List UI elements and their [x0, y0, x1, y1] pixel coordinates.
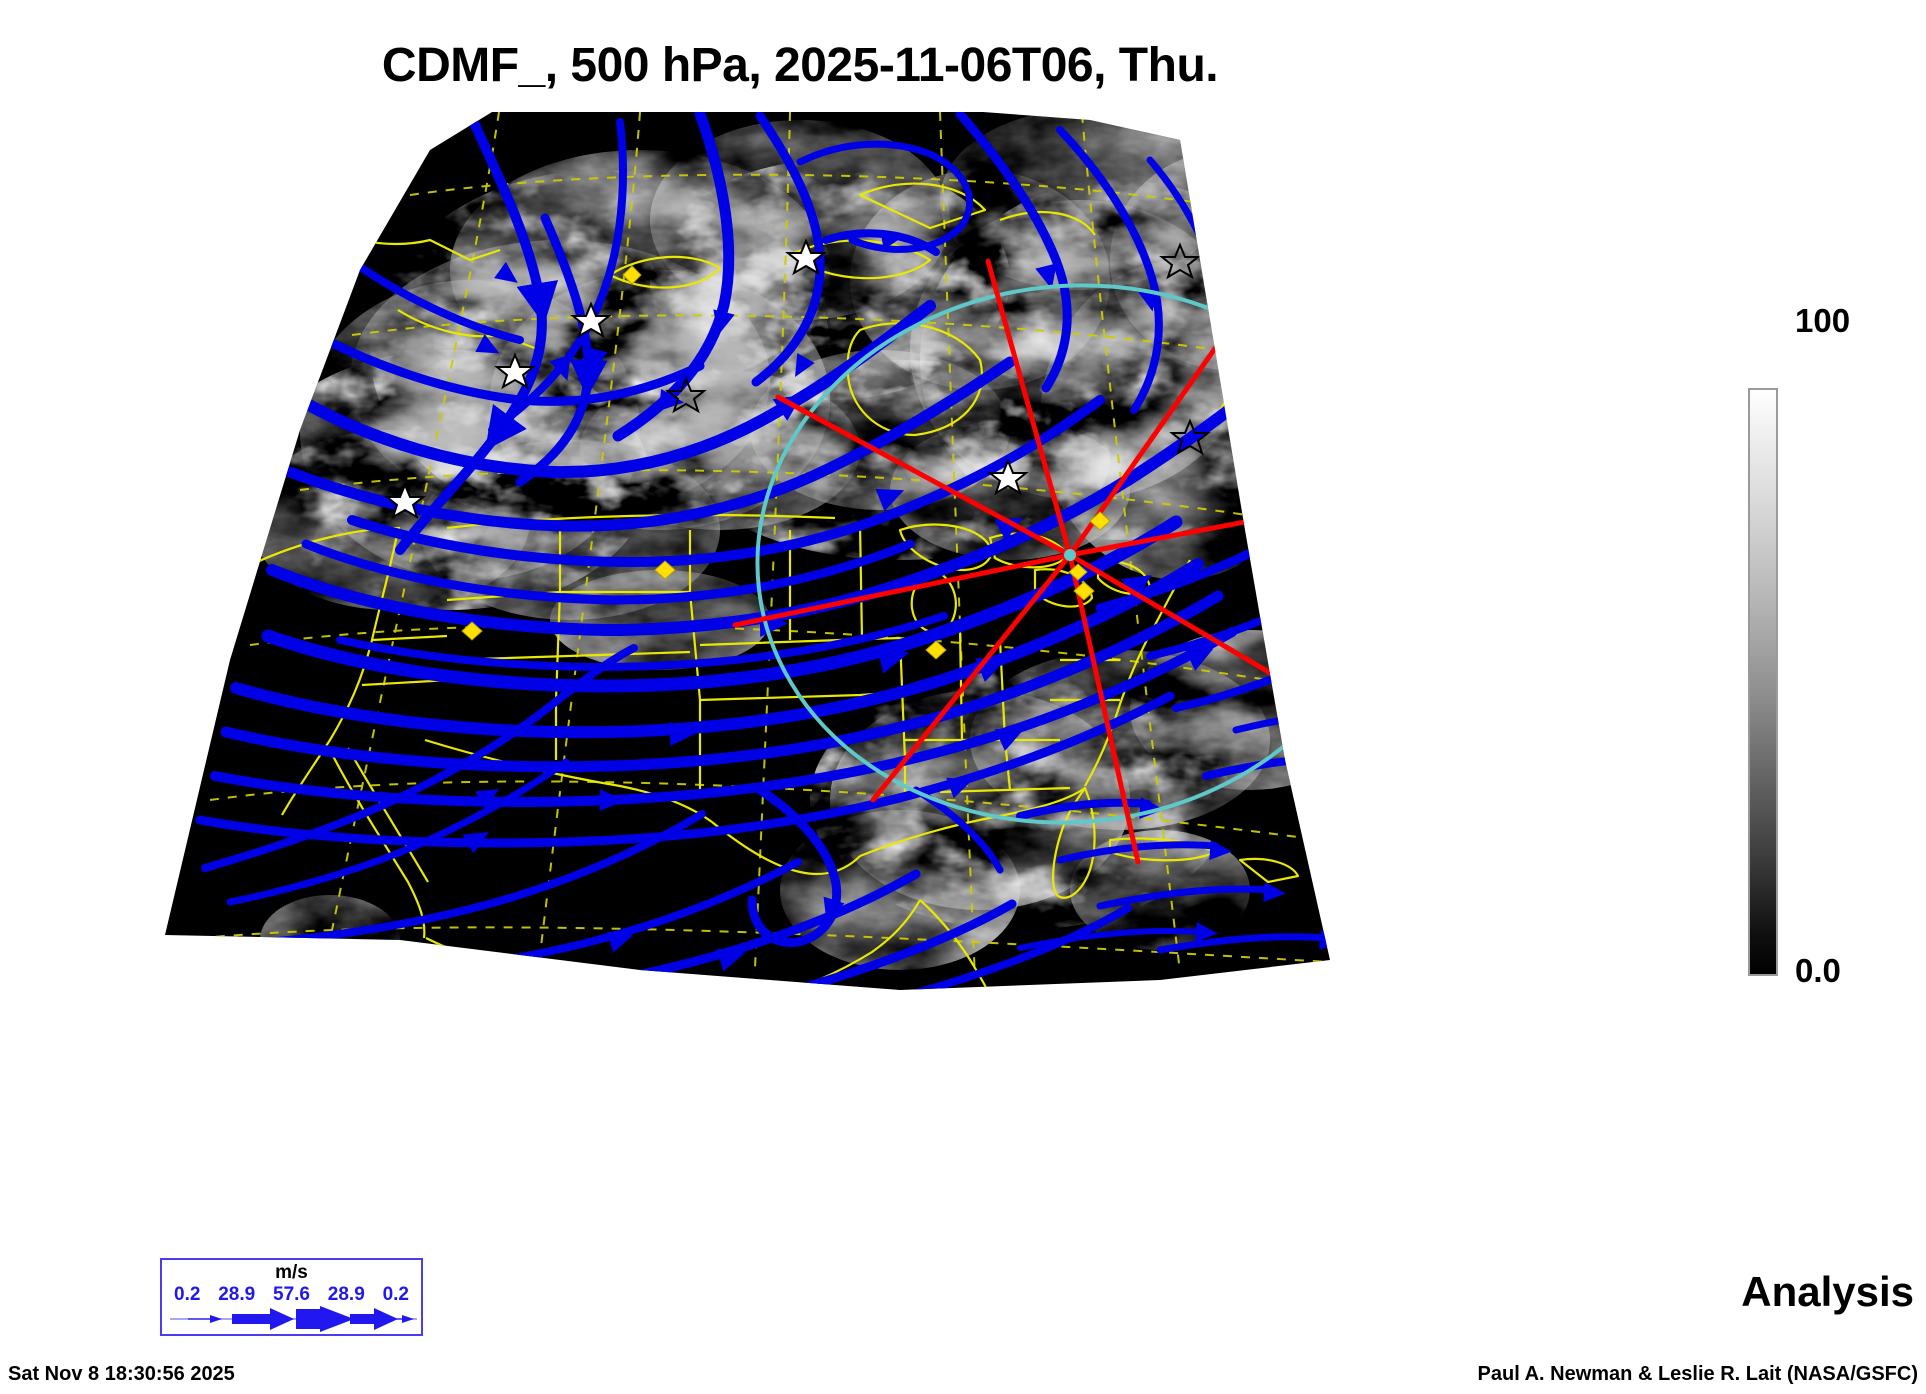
generation-timestamp: Sat Nov 8 18:30:56 2025 — [8, 1363, 235, 1386]
wind-key-units: m/s — [162, 1262, 421, 1284]
wind-key-value-4: 28.9 — [328, 1284, 365, 1306]
map-raster-layer — [0, 100, 1600, 1050]
page-title: CDMF_, 500 hPa, 2025-11-06T06, Thu. — [0, 38, 1600, 93]
colorbar-min-label: 0.0 — [1795, 952, 1841, 990]
credit-line: Paul A. Newman & Leslie R. Lait (NASA/GS… — [1478, 1363, 1918, 1386]
map-canvas[interactable] — [0, 100, 1600, 1050]
analysis-label: Analysis — [1741, 1268, 1914, 1316]
colorbar-max-label: 100 — [1795, 302, 1850, 340]
wind-key-value-5: 0.2 — [383, 1284, 409, 1306]
wind-speed-key: m/s 0.2 28.9 57.6 28.9 0.2 — [160, 1258, 423, 1336]
wind-key-value-1: 0.2 — [174, 1284, 200, 1306]
weather-map-figure: CDMF_, 500 hPa, 2025-11-06T06, Thu. — [0, 0, 1926, 1394]
wind-key-arrows — [170, 1306, 417, 1332]
map-panel[interactable] — [0, 100, 1600, 1050]
wind-key-value-2: 28.9 — [218, 1284, 255, 1306]
wind-key-value-3: 57.6 — [273, 1284, 310, 1306]
track-origin-marker — [1064, 549, 1076, 561]
colorbar — [1748, 388, 1778, 976]
wind-key-values: 0.2 28.9 57.6 28.9 0.2 — [162, 1284, 421, 1306]
